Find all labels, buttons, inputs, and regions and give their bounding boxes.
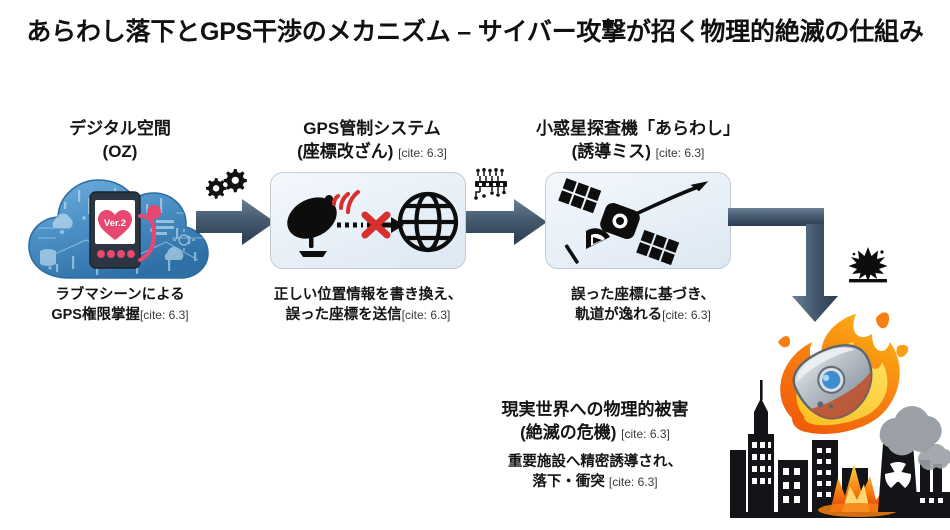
version-badge: Ver.2	[104, 218, 126, 229]
node-heading-asteroid-probe: 小惑星探査機「あらわし」 (誘導ミス) [cite: 6.3]	[512, 118, 764, 164]
node-heading-line1: 小惑星探査機「あらわし」	[512, 118, 764, 141]
node-caption-line2: GPS権限掌握[cite: 6.3]	[10, 305, 230, 325]
satellite-dish-x-globe-svg	[271, 173, 467, 270]
impact-caption-line1: 重要施設へ精密誘導され、	[470, 452, 720, 472]
caption-cite: [cite: 6.3]	[140, 308, 189, 322]
node-caption-line1: ラブマシーンによる	[10, 285, 230, 305]
node-heading-line2: (OZ)	[14, 141, 226, 164]
impact-caption-line2: 落下・衝突 [cite: 6.3]	[470, 472, 720, 492]
page-title: あらわし落下とGPS干渉のメカニズム – サイバー攻撃が招く物理的絶滅の仕組み	[0, 12, 950, 48]
signal-waves-icon	[334, 192, 358, 212]
node-caption-line2: 軌道が逸れる[cite: 6.3]	[528, 305, 758, 325]
flaming-capsule-icon	[778, 312, 908, 434]
impact-heading-line1: 現実世界への物理的被害	[470, 398, 720, 421]
node-heading-line2: (座標改ざん) [cite: 6.3]	[272, 141, 472, 164]
impact-heading-line2: (絶滅の危機) [cite: 6.3]	[470, 421, 720, 444]
caption-cite: [cite: 6.3]	[662, 308, 711, 322]
heading-cite: [cite: 6.3]	[398, 146, 447, 160]
circuit-chip-icon	[470, 168, 512, 202]
node-heading-line2: (誘導ミス) [cite: 6.3]	[512, 141, 764, 164]
diagram-canvas: あらわし落下とGPS干渉のメカニズム – サイバー攻撃が招く物理的絶滅の仕組み …	[0, 0, 950, 530]
trajectory-arrow-icon	[638, 181, 710, 213]
node-caption-line1: 正しい位置情報を書き換え、	[248, 285, 488, 305]
node-caption-digital-space: ラブマシーンによる GPS権限掌握[cite: 6.3]	[10, 285, 230, 326]
heading-cite: [cite: 6.3]	[656, 146, 705, 160]
impact-caption-cite: [cite: 6.3]	[609, 475, 658, 489]
satellite-with-trajectory-svg	[546, 173, 732, 270]
gears-icon	[206, 166, 248, 200]
caption-cite: [cite: 6.3]	[402, 308, 451, 322]
node-heading-gps-control-system: GPS管制システム (座標改ざん) [cite: 6.3]	[272, 118, 472, 164]
node-caption-line2: 誤った座標を送信[cite: 6.3]	[248, 305, 488, 325]
arrow-gps-to-probe	[466, 198, 548, 246]
impact-scene-illustration	[730, 300, 950, 530]
globe-icon	[400, 194, 456, 250]
explosion-icon	[848, 246, 888, 286]
impact-caption: 重要施設へ精密誘導され、 落下・衝突 [cite: 6.3]	[470, 452, 720, 493]
node-heading-line1: GPS管制システム	[272, 118, 472, 141]
cloud-svg: Ver.2	[26, 168, 212, 286]
arrow-cloud-to-gps	[196, 198, 276, 246]
node-caption-line1: 誤った座標に基づき、	[528, 285, 758, 305]
node-caption-asteroid-probe: 誤った座標に基づき、 軌道が逸れる[cite: 6.3]	[528, 285, 758, 326]
satellite-icon	[558, 178, 679, 265]
cloud-illustration: Ver.2	[26, 168, 212, 286]
impact-scene-svg	[730, 300, 950, 530]
node-heading-digital-space: デジタル空間 (OZ)	[14, 118, 226, 164]
node-box-gps-control-system	[270, 172, 466, 269]
node-heading-line1: デジタル空間	[14, 118, 226, 141]
node-caption-gps-control-system: 正しい位置情報を書き換え、 誤った座標を送信[cite: 6.3]	[248, 285, 488, 326]
impact-heading: 現実世界への物理的被害 (絶滅の危機) [cite: 6.3]	[470, 398, 720, 445]
impact-heading-cite: [cite: 6.3]	[621, 427, 670, 441]
node-box-asteroid-probe	[545, 172, 731, 269]
